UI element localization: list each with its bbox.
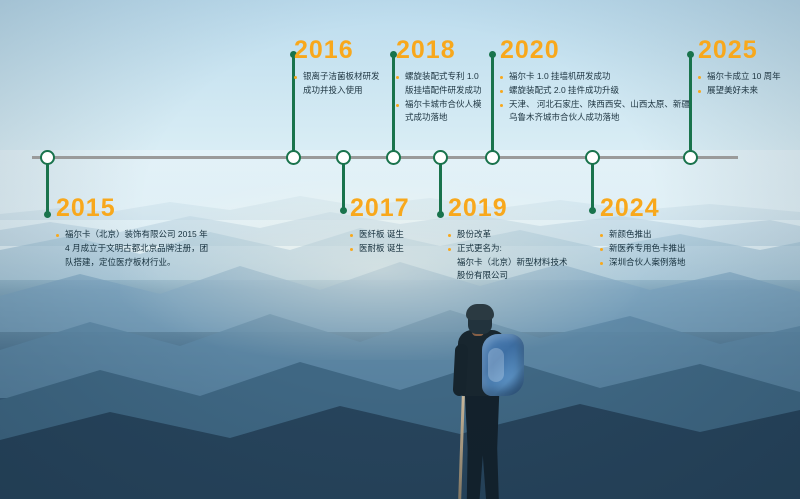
- milestone-2019-stem: [439, 164, 442, 214]
- milestone-2018-bullet-list: 螺旋装配式专利 1.0版挂墙配件研发成功福尔卡城市合伙人模式成功落地: [396, 70, 482, 125]
- milestone-2025-bullet-list: 福尔卡成立 10 周年展望美好未来: [698, 70, 781, 98]
- milestone-2020-bullet: 天津、 河北石家庄、陕西西安、山西太原、新疆: [500, 98, 690, 112]
- milestone-2019-node[interactable]: [433, 150, 448, 165]
- milestone-2017-stem-cap: [340, 207, 347, 214]
- milestone-2016-bullet: 银离子洁菌板材研发: [294, 70, 380, 84]
- milestone-2024-bullet: 新医养专用色卡推出: [600, 242, 686, 256]
- milestone-2024-stem-cap: [589, 207, 596, 214]
- milestone-2015-bullet: 队搭建，定位医疗板材行业。: [56, 256, 208, 270]
- milestone-2019-bullet-list: 股份改革正式更名为:福尔卡（北京）新型材料技术股份有限公司: [448, 228, 568, 283]
- milestone-2025-bullet: 福尔卡成立 10 周年: [698, 70, 781, 84]
- milestone-2025-node[interactable]: [683, 150, 698, 165]
- milestone-2024-stem: [591, 164, 594, 210]
- milestone-2020-bullet: 螺旋装配式 2.0 挂件成功升级: [500, 84, 690, 98]
- hiker-backpack: [482, 334, 524, 396]
- milestone-2024-bullet: 新颜色推出: [600, 228, 686, 242]
- timeline-infographic: 2015福尔卡（北京）装饰有限公司 2015 年4 月成立于文明古都北京品牌注册…: [0, 0, 800, 499]
- milestone-2018-bullet: 福尔卡城市合伙人模: [396, 98, 482, 112]
- milestone-2018-year-label: 2018: [396, 38, 482, 63]
- hiker-legs: [462, 384, 502, 499]
- milestone-2016-block: 2016银离子洁菌板材研发成功并投入使用: [294, 38, 380, 98]
- milestone-2020-bullet-list: 福尔卡 1.0 挂墙机研发成功螺旋装配式 2.0 挂件成功升级天津、 河北石家庄…: [500, 70, 690, 125]
- milestone-2017-year-label: 2017: [350, 196, 410, 221]
- milestone-2017-block: 2017医纤板 诞生医耐板 诞生: [350, 196, 410, 256]
- milestone-2019-stem-cap: [437, 211, 444, 218]
- milestone-2020-stem-cap: [489, 51, 496, 58]
- milestone-2024-bullet-list: 新颜色推出新医养专用色卡推出深圳合伙人案例落地: [600, 228, 686, 269]
- milestone-2015-bullet: 福尔卡（北京）装饰有限公司 2015 年: [56, 228, 208, 242]
- hiker-figure: [430, 300, 550, 499]
- milestone-2024-block: 2024新颜色推出新医养专用色卡推出深圳合伙人案例落地: [600, 196, 686, 269]
- milestone-2020-block: 2020福尔卡 1.0 挂墙机研发成功螺旋装配式 2.0 挂件成功升级天津、 河…: [500, 38, 690, 125]
- milestone-2016-node[interactable]: [286, 150, 301, 165]
- milestone-2024-year-label: 2024: [600, 196, 686, 221]
- milestone-2016-year-label: 2016: [294, 38, 380, 63]
- milestone-2016-bullet: 成功并投入使用: [294, 84, 380, 98]
- milestone-2017-stem: [342, 164, 345, 210]
- hiker-hair: [466, 304, 494, 320]
- milestone-2019-bullet: 正式更名为:: [448, 242, 568, 256]
- milestone-2019-bullet: 股份有限公司: [448, 269, 568, 283]
- milestone-2015-node[interactable]: [40, 150, 55, 165]
- milestone-2019-bullet: 福尔卡（北京）新型材料技术: [448, 256, 568, 270]
- milestone-2018-bullet: 版挂墙配件研发成功: [396, 84, 482, 98]
- milestone-2017-bullet: 医耐板 诞生: [350, 242, 410, 256]
- milestone-2020-stem: [491, 55, 494, 153]
- milestone-2019-year-label: 2019: [448, 196, 568, 221]
- milestone-2025-year-label: 2025: [698, 38, 781, 63]
- milestone-2018-stem: [392, 55, 395, 153]
- trekking-pole: [458, 396, 465, 499]
- milestone-2018-node[interactable]: [386, 150, 401, 165]
- milestone-2017-bullet-list: 医纤板 诞生医耐板 诞生: [350, 228, 410, 256]
- milestone-2020-bullet: 乌鲁木齐城市合伙人成功落地: [500, 111, 690, 125]
- mountain-ridge-foreground: [0, 386, 800, 499]
- milestone-2019-bullet: 股份改革: [448, 228, 568, 242]
- milestone-2024-bullet: 深圳合伙人案例落地: [600, 256, 686, 270]
- milestone-2015-bullet: 4 月成立于文明古都北京品牌注册，团: [56, 242, 208, 256]
- milestone-2018-block: 2018螺旋装配式专利 1.0版挂墙配件研发成功福尔卡城市合伙人模式成功落地: [396, 38, 482, 125]
- milestone-2015-block: 2015福尔卡（北京）装饰有限公司 2015 年4 月成立于文明古都北京品牌注册…: [56, 196, 208, 269]
- milestone-2025-block: 2025福尔卡成立 10 周年展望美好未来: [698, 38, 781, 98]
- milestone-2015-stem-cap: [44, 211, 51, 218]
- milestone-2024-node[interactable]: [585, 150, 600, 165]
- milestone-2020-bullet: 福尔卡 1.0 挂墙机研发成功: [500, 70, 690, 84]
- milestone-2017-bullet: 医纤板 诞生: [350, 228, 410, 242]
- milestone-2015-year-label: 2015: [56, 196, 208, 221]
- milestone-2018-bullet: 螺旋装配式专利 1.0: [396, 70, 482, 84]
- milestone-2015-stem: [46, 164, 49, 214]
- milestone-2020-year-label: 2020: [500, 38, 690, 63]
- milestone-2016-bullet-list: 银离子洁菌板材研发成功并投入使用: [294, 70, 380, 98]
- milestone-2017-node[interactable]: [336, 150, 351, 165]
- milestone-2019-block: 2019股份改革正式更名为:福尔卡（北京）新型材料技术股份有限公司: [448, 196, 568, 283]
- hiker-arm: [453, 344, 469, 397]
- milestone-2015-bullet-list: 福尔卡（北京）装饰有限公司 2015 年4 月成立于文明古都北京品牌注册，团队搭…: [56, 228, 208, 269]
- milestone-2018-bullet: 式成功落地: [396, 111, 482, 125]
- milestone-2025-bullet: 展望美好未来: [698, 84, 781, 98]
- milestone-2020-node[interactable]: [485, 150, 500, 165]
